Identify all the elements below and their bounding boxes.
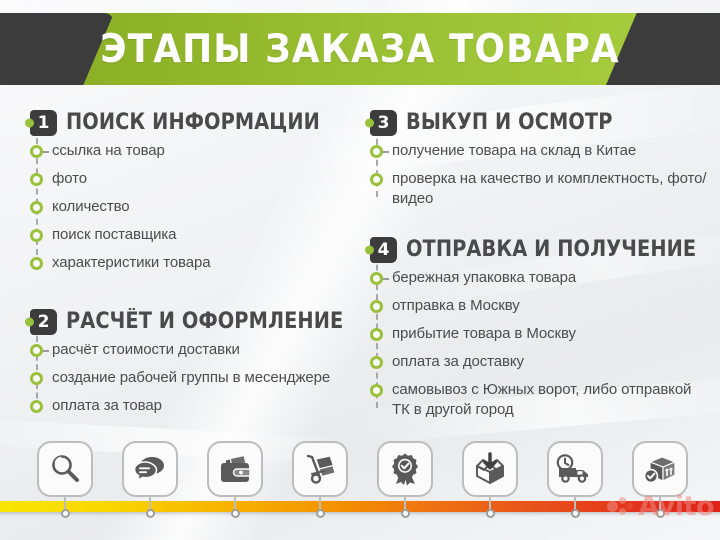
section-4: 4 ОТПРАВКА И ПОЛУЧЕНИЕ бережная упаковка…: [366, 237, 710, 420]
pin-dot: [656, 509, 665, 518]
list-item: количество: [26, 197, 362, 221]
step-number-badge: 3: [370, 110, 397, 136]
bullet-ring-icon: [30, 400, 43, 413]
pin-dot: [316, 509, 325, 518]
list-item-label: оплата за товар: [52, 396, 162, 416]
list-item: поиск поставщика: [26, 225, 362, 249]
list-item: фото: [26, 169, 362, 193]
section-2-list: расчёт стоимости доставки создание рабоч…: [26, 340, 362, 420]
list-item-label: ссылка на товар: [52, 141, 165, 161]
timeline-step-6: [461, 441, 519, 518]
list-item-label: характеристики товара: [52, 253, 210, 273]
bullet-ring-icon: [370, 356, 383, 369]
timeline-step-2: [121, 441, 179, 518]
list-item: отправка в Москву: [366, 296, 710, 320]
right-column: 3 ВЫКУП И ОСМОТР получение товара на скл…: [366, 110, 710, 420]
bullet-ring-icon: [370, 384, 383, 397]
list-item-label: проверка на качество и комплектность, фо…: [392, 169, 710, 209]
pin-dot: [231, 509, 240, 518]
pin-dot: [146, 509, 155, 518]
header-banner: ЭТАПЫ ЗАКАЗА ТОВАРА: [0, 13, 720, 85]
section-4-list: бережная упаковка товара отправка в Моск…: [366, 268, 710, 420]
list-item-label: оплата за доставку: [392, 352, 524, 372]
section-3: 3 ВЫКУП И ОСМОТР получение товара на скл…: [366, 110, 710, 209]
list-item-label: поиск поставщика: [52, 225, 176, 245]
wallet-icon: [207, 441, 263, 497]
section-1-list: ссылка на товар фото количество поиск по…: [26, 141, 362, 277]
chat-bubbles-icon: [122, 441, 178, 497]
list-item: бережная упаковка товара: [366, 268, 710, 292]
section-3-list: получение товара на склад в Китае провер…: [366, 141, 710, 209]
section-1-heading: 1 ПОИСК ИНФОРМАЦИИ: [26, 110, 362, 136]
list-item: прибытие товара в Москву: [366, 324, 710, 348]
section-2: 2 РАСЧЁТ И ОФОРМЛЕНИЕ расчёт стоимости д…: [26, 309, 362, 420]
bullet-ring-icon: [30, 257, 43, 270]
list-item: проверка на качество и комплектность, фо…: [366, 169, 710, 209]
list-item: самовывоз с Южных ворот, либо отправкой …: [366, 380, 710, 420]
list-item-label: получение товара на склад в Китае: [392, 141, 636, 161]
delivery-truck-icon: [547, 441, 603, 497]
list-item: создание рабочей группы в месенджере: [26, 368, 362, 392]
hand-truck-icon: [292, 441, 348, 497]
bullet-ring-icon: [30, 173, 43, 186]
bullet-ring-icon: [30, 229, 43, 242]
section-3-heading: 3 ВЫКУП И ОСМОТР: [366, 110, 710, 136]
bullet-ring-icon: [370, 145, 383, 158]
section-3-title: ВЫКУП И ОСМОТР: [406, 111, 612, 134]
list-item-label: расчёт стоимости доставки: [52, 340, 240, 360]
pin-dot: [486, 509, 495, 518]
list-item-label: самовывоз с Южных ворот, либо отправкой …: [392, 380, 710, 420]
list-item-label: бережная упаковка товара: [392, 268, 576, 288]
list-item: оплата за доставку: [366, 352, 710, 376]
bullet-ring-icon: [30, 344, 43, 357]
bullet-ring-icon: [30, 145, 43, 158]
bullet-ring-icon: [370, 328, 383, 341]
timeline-step-8: [631, 441, 689, 518]
bullet-ring-icon: [370, 272, 383, 285]
step-number-badge: 1: [30, 110, 57, 136]
list-item-label: создание рабочей группы в месенджере: [52, 368, 330, 388]
bullet-ring-icon: [370, 300, 383, 313]
box-packing-icon: [462, 441, 518, 497]
left-column: 1 ПОИСК ИНФОРМАЦИИ ссылка на товар фото …: [26, 110, 362, 420]
section-1-title: ПОИСК ИНФОРМАЦИИ: [66, 111, 320, 134]
section-1: 1 ПОИСК ИНФОРМАЦИИ ссылка на товар фото …: [26, 110, 362, 277]
bullet-ring-icon: [30, 201, 43, 214]
section-4-title: ОТПРАВКА И ПОЛУЧЕНИЕ: [406, 238, 696, 261]
timeline-icon-strip: [0, 430, 720, 540]
list-item: получение товара на склад в Китае: [366, 141, 710, 165]
list-item: расчёт стоимости доставки: [26, 340, 362, 364]
list-item-label: фото: [52, 169, 87, 189]
list-item: ссылка на товар: [26, 141, 362, 165]
infographic-canvas: ЭТАПЫ ЗАКАЗА ТОВАРА 1 ПОИСК ИНФОРМАЦИИ с…: [0, 0, 720, 540]
pin-dot: [571, 509, 580, 518]
timeline-step-5: [376, 441, 434, 518]
pin-dot: [401, 509, 410, 518]
page-title: ЭТАПЫ ЗАКАЗА ТОВАРА: [29, 13, 691, 85]
section-2-heading: 2 РАСЧЁТ И ОФОРМЛЕНИЕ: [26, 309, 362, 335]
section-2-title: РАСЧЁТ И ОФОРМЛЕНИЕ: [66, 310, 343, 333]
bullet-ring-icon: [370, 173, 383, 186]
list-item: характеристики товара: [26, 253, 362, 277]
timeline-gradient-bar: [0, 501, 720, 512]
step-number-badge: 4: [370, 237, 397, 263]
timeline-step-3: [206, 441, 264, 518]
list-item: оплата за товар: [26, 396, 362, 420]
list-item-label: отправка в Москву: [392, 296, 520, 316]
section-4-heading: 4 ОТПРАВКА И ПОЛУЧЕНИЕ: [366, 237, 710, 263]
timeline-step-1: [36, 441, 94, 518]
magnifier-icon: [37, 441, 93, 497]
bullet-ring-icon: [30, 372, 43, 385]
package-check-icon: [632, 441, 688, 497]
quality-badge-icon: [377, 441, 433, 497]
step-number-badge: 2: [30, 309, 57, 335]
pin-dot: [61, 509, 70, 518]
list-item-label: количество: [52, 197, 130, 217]
timeline-step-4: [291, 441, 349, 518]
list-item-label: прибытие товара в Москву: [392, 324, 576, 344]
timeline-step-7: [546, 441, 604, 518]
